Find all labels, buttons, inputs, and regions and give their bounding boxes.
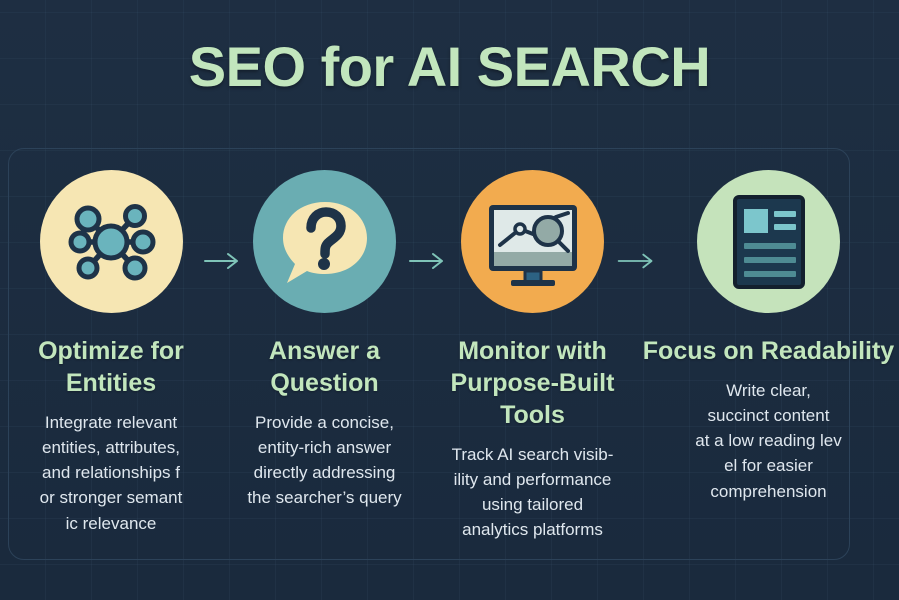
step-1-body: Integrate relevant entities, attributes,… xyxy=(11,410,211,536)
monitor-analytics-icon xyxy=(480,189,586,295)
step-4-body: Write clear, succinct content at a low r… xyxy=(669,378,869,504)
step-3-heading: Monitor with Purpose-Built Tools xyxy=(427,335,638,431)
arrow-step3-to-step4 xyxy=(615,250,657,272)
step-card-4: Focus on Readability Write clear, succin… xyxy=(638,170,899,504)
infographic-root: SEO for AI SEARCH xyxy=(0,0,899,600)
step-2-body: Provide a concise, entity-rich answer di… xyxy=(227,410,423,511)
document-readability-icon xyxy=(721,191,817,293)
step-3-body: Track AI search visib- ility and perform… xyxy=(435,442,631,543)
question-speech-bubble-icon xyxy=(273,190,377,294)
step-card-3: Monitor with Purpose-Built Tools Track A… xyxy=(427,170,638,543)
step-2-icon-circle xyxy=(253,170,396,313)
arrow-step2-to-step3 xyxy=(406,250,448,272)
arrow-step1-to-step2 xyxy=(201,250,243,272)
step-4-icon-circle xyxy=(697,170,840,313)
step-1-heading: Optimize for Entities xyxy=(0,335,222,399)
steps-row: Optimize for Entities Integrate relevant… xyxy=(0,170,899,543)
entity-network-icon xyxy=(61,192,161,292)
step-1-icon-circle xyxy=(40,170,183,313)
step-2-heading: Answer a Question xyxy=(222,335,427,399)
page-title: SEO for AI SEARCH xyxy=(0,34,899,99)
step-4-heading: Focus on Readability xyxy=(643,335,894,367)
step-card-1: Optimize for Entities Integrate relevant… xyxy=(0,170,222,536)
step-3-icon-circle xyxy=(461,170,604,313)
step-card-2: Answer a Question Provide a concise, ent… xyxy=(222,170,427,511)
